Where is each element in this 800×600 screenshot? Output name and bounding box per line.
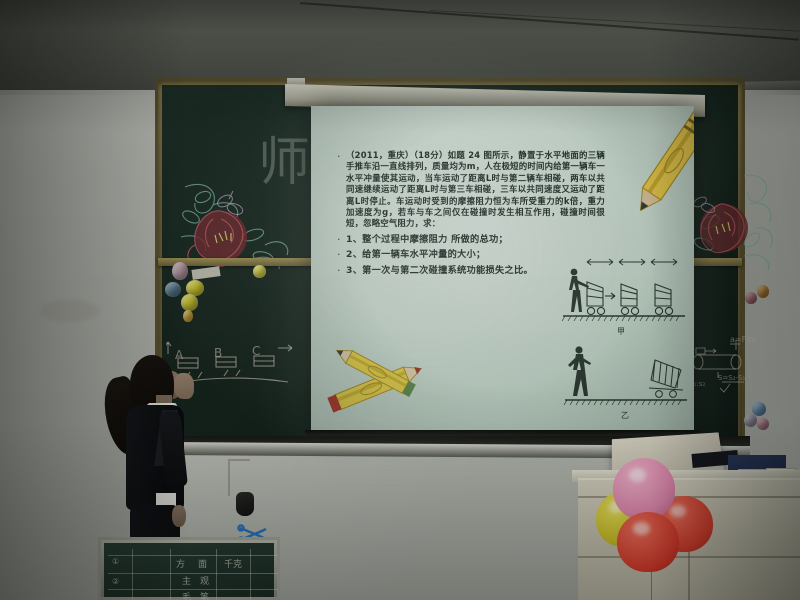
teacher-raised-hand bbox=[174, 373, 194, 399]
balloon-orange-small bbox=[757, 285, 769, 298]
chalk-marker-1: ① bbox=[112, 557, 119, 566]
classroom-photo: 师 bbox=[0, 0, 800, 600]
speaker-bracket-arm bbox=[228, 459, 250, 461]
balloon-blue-small bbox=[165, 282, 181, 297]
chalk-cell-2-0: 毛 bbox=[182, 590, 191, 600]
chalk-ghost-character: 师 bbox=[258, 120, 312, 195]
chalk-marker-2: ② bbox=[112, 577, 119, 586]
balloon-pink-small bbox=[172, 262, 188, 280]
chalk-grid-line bbox=[170, 549, 171, 600]
wall-speaker-icon bbox=[236, 492, 254, 516]
desk-panel-seam bbox=[578, 556, 800, 558]
balloon-grey-right bbox=[744, 414, 757, 427]
chalk-physics-notes-icon: a=F/m s₁:s₂ S=S₂-S₁ bbox=[690, 330, 760, 400]
projector-screen: · （2011，重庆）（18分）如题 24 图所示，静置于水平地面的三辆手推车沿… bbox=[311, 106, 694, 433]
screen-vignette bbox=[311, 106, 694, 433]
portable-chalkboard-surface: 方 面 千克 主 观 毛 笔 ① ② bbox=[104, 543, 274, 597]
chalk-cell-2-1: 笔 bbox=[200, 590, 209, 600]
chalk-cell-0-2: 千克 bbox=[224, 557, 242, 570]
chalk-grid-line bbox=[108, 573, 278, 574]
teacher-lower-hand bbox=[172, 505, 186, 527]
chalk-grid-line bbox=[108, 589, 278, 590]
svg-text:S=S₂-S₁: S=S₂-S₁ bbox=[718, 374, 746, 382]
balloon-red-bottom bbox=[617, 512, 679, 572]
speaker-bracket-post bbox=[228, 460, 230, 496]
chalk-cell-0-1: 面 bbox=[198, 557, 207, 570]
wall-smudge bbox=[40, 300, 100, 322]
chalk-grid-line bbox=[108, 555, 278, 556]
chalk-cell-1-1: 观 bbox=[200, 574, 209, 587]
chalk-grid-line bbox=[132, 549, 133, 600]
svg-text:a=F/m: a=F/m bbox=[730, 335, 757, 344]
chalk-cell-0-0: 方 bbox=[176, 557, 185, 570]
portable-chalkboard: 方 面 千克 主 观 毛 笔 ① ② bbox=[98, 537, 280, 600]
balloon-pink bbox=[613, 458, 675, 520]
balloon-yellow-small-2 bbox=[181, 294, 198, 311]
balloon-rose-small bbox=[745, 292, 757, 304]
balloon-yellow-right bbox=[253, 265, 266, 278]
balloon-pink-right bbox=[757, 418, 769, 430]
chalk-cell-1-0: 主 bbox=[182, 574, 191, 587]
chalk-grid-line bbox=[250, 549, 251, 600]
balloon-blue-right bbox=[752, 402, 766, 416]
balloon-gold-tiny bbox=[183, 310, 193, 322]
chalk-grid-line bbox=[216, 549, 217, 600]
